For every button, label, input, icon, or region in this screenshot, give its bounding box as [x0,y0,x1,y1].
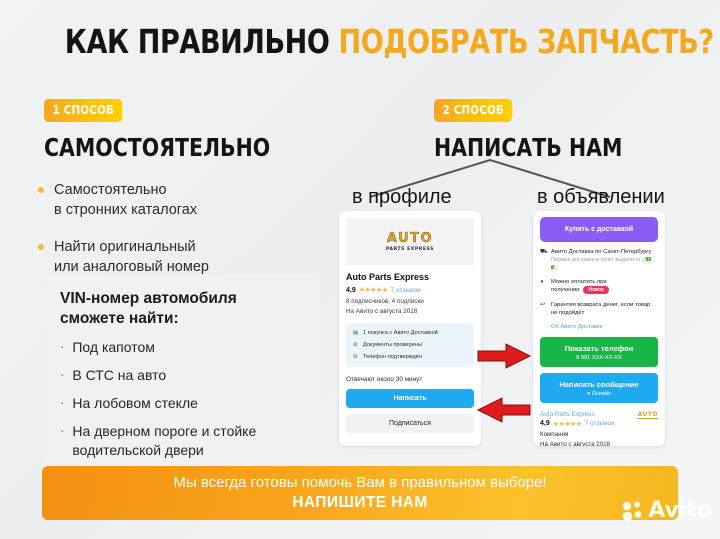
avito-watermark: Avito [622,498,712,523]
write-button[interactable]: Написать [346,389,474,408]
page-title: КАК ПРАВИЛЬНО ПОДОБРАТЬ ЗАПЧАСТЬ? [65,22,655,61]
shop-name: Auto Parts Express [346,272,474,282]
column-label-listing: в объявлении [537,186,665,209]
seller-rating-value: 4,9 [540,420,550,427]
show-phone-button[interactable]: Показать телефон 8 981 XXX-XX-XX [540,337,658,367]
followers-count: 8 подписчиков, 4 подписки [346,298,474,305]
answer-time-text: Отвечают около 30 минут [346,376,474,383]
bullet-dot-icon [38,187,44,193]
page-title-black: КАК ПРАВИЛЬНО [65,22,339,61]
list-item-line1: На дверном пороге и стойке [72,423,256,439]
list-item-label: 1 покупка с Авито Доставкой [363,330,438,336]
list-item-line2: водительской двери [72,442,203,458]
list-item: · В СТС на авто [60,366,304,385]
list-item-label: Документы проверены [363,342,422,348]
seller-rating-row: 4,9 ★★★★★ 7 отзывов [540,420,615,428]
check-circle-icon: ⊘ [353,342,359,348]
refund-text-line2: не подойдёт [551,310,584,316]
online-status-badge: ● Онлайн [540,391,658,397]
list-item-label: Телефон подтверждён [363,354,422,360]
list-item-text: На дверном пороге и стойке водительской … [72,422,256,460]
about-delivery-link[interactable]: Об Авито Доставке [551,324,658,330]
infographic-page: КАК ПРАВИЛЬНО ПОДОБРАТЬ ЗАПЧАСТЬ? 1 СПОС… [0,0,720,539]
new-badge: Новое [583,286,609,294]
list-item-text: Под капотом [72,338,155,357]
list-item-text: Можно оплатить при полученииНовое [551,279,658,295]
rating-value: 4,9 [346,287,356,294]
bullet-dot-icon [38,244,44,250]
arrow-left-icon-bottom [476,396,532,424]
list-item: · На дверном пороге и стойке водительско… [60,422,304,460]
vin-heading-line1: VIN-номер автомобиля [60,290,237,307]
rating-row: 4,9 ★★★★★ 7 отзывов [346,286,474,294]
bullet-dot-icon: · [60,338,64,356]
list-item-text: Самостоятельно в стронних каталогах [54,180,197,220]
seller-mini-logo: AUTO [637,411,658,419]
bullet-dot-icon: · [60,422,64,440]
seller-summary-text: Auto Parts Express 4,9 ★★★★★ 7 отзывов К… [540,411,615,446]
return-icon: ↩ [540,302,547,309]
truck-icon: ⛟ [540,249,547,256]
shop-logo-main: AUTO [387,232,433,245]
wallet-icon: ◕ [540,279,547,286]
star-icon: ★★★★★ [359,286,388,294]
list-item: · Под капотом [60,338,304,357]
send-message-label: Написать сообщение [540,380,658,389]
list-item-text: Гарантия возврата денег, если товар не п… [551,302,650,318]
listing-card-body: Купить с доставкой ⛟ Авито Доставка по С… [533,211,665,446]
member-since: На Авито с августа 2018 [346,308,474,315]
delivery-city-text: Авито Доставка по Санкт-Петербургу [551,249,651,255]
cta-banner: Мы всегда готовы помочь Вам в правильном… [42,466,678,520]
list-item-line1: Найти оригинальный [54,239,196,255]
list-item-text: Авито Доставка по Санкт-Петербургу Первы… [551,249,658,272]
shop-logo: AUTO PARTS EXPRESS [346,218,474,265]
cta-banner-line2: НАПИШИТЕ НАМ [292,494,427,512]
seller-profile-card: AUTO PARTS EXPRESS Auto Parts Express 4,… [339,211,481,446]
list-item: ◕ Можно оплатить при полученииНовое [540,279,658,295]
list-item: · На лобовом стекле [60,394,304,413]
list-item: ⊘ Телефон подтверждён [348,351,472,363]
way-1-badge: 1 СПОСОБ [44,99,123,122]
list-item: Самостоятельно в стронних каталогах [38,180,328,220]
vin-card-heading: VIN-номер автомобиля сможете найти: [60,289,304,329]
bullet-dot-icon: · [60,394,64,412]
seller-type: Компания [540,431,615,438]
seller-member-since: На Авито с августа 2018 [540,441,615,446]
shop-logo-sub: PARTS EXPRESS [386,247,434,252]
delivery-box-icon: ▤ [353,330,359,336]
list-item: ▤ 1 покупка с Авито Доставкой [348,327,472,339]
list-item: Найти оригинальный или аналоговый номер [38,237,328,277]
refund-text-line1: Гарантия возврата денег, если товар [551,302,650,308]
way-1-title: САМОСТОЯТЕЛЬНО [44,133,270,162]
list-item-line2: или аналоговый номер [54,259,209,275]
list-item: ⛟ Авито Доставка по Санкт-Петербургу Пер… [540,249,658,272]
cta-banner-line1: Мы всегда готовы помочь Вам в правильном… [173,474,546,491]
list-item-line1: Самостоятельно [54,182,167,198]
avito-watermark-text: Avito [648,498,712,523]
column-label-profile: в профиле [352,186,452,209]
list-item: ⊘ Документы проверены [348,339,472,351]
avito-logo-icon [622,500,644,522]
listing-sidebar-card: Купить с доставкой ⛟ Авито Доставка по С… [533,211,665,446]
list-item-text: В СТС на авто [72,366,166,385]
check-circle-icon: ⊘ [353,354,359,360]
list-item: ↩ Гарантия возврата денег, если товар не… [540,302,658,318]
vin-info-card: VIN-номер автомобиля сможете найти: · По… [44,275,320,476]
buy-with-delivery-button[interactable]: Купить с доставкой [540,217,658,242]
reviews-link[interactable]: 7 отзывов [391,287,421,294]
trust-badge-list: ▤ 1 покупка с Авито Доставкой ⊘ Документ… [346,323,474,367]
follow-button[interactable]: Подписаться [346,414,474,433]
seller-summary: Auto Parts Express 4,9 ★★★★★ 7 отзывов К… [540,411,658,446]
star-icon: ★★★★★ [553,420,582,428]
bullet-dot-icon: · [60,366,64,384]
send-message-button[interactable]: Написать сообщение ● Онлайн [540,373,658,403]
vin-heading-line2: сможете найти: [60,310,179,327]
way-2-badge: 2 СПОСОБ [434,99,513,122]
list-item-text: Найти оригинальный или аналоговый номер [54,237,209,277]
seller-reviews-link[interactable]: 7 отзывов [585,420,615,427]
arrow-right-icon-top [476,342,532,370]
phone-number-masked: 8 981 XXX-XX-XX [540,355,658,361]
page-title-orange: ПОДОБРАТЬ ЗАПЧАСТЬ? [339,22,714,61]
delivery-sub-text: Первые доставки в пункт выдачи от [551,257,641,263]
seller-name-link[interactable]: Auto Parts Express [540,411,615,418]
show-phone-label: Показать телефон [540,344,658,353]
list-item-line2: в стронних каталогах [54,202,197,218]
list-item-text: На лобовом стекле [72,394,198,413]
